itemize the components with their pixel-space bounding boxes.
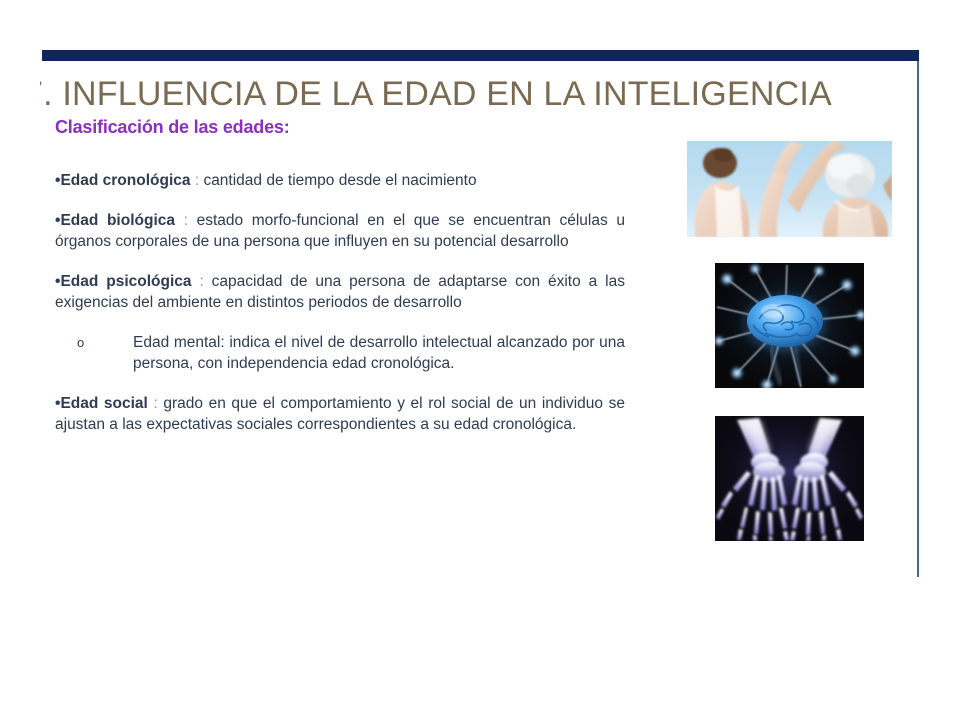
hand-xray-photo bbox=[715, 416, 864, 541]
sub-term-label: Edad mental bbox=[133, 334, 220, 351]
slide-canvas: 7. INFLUENCIA DE LA EDAD EN LA INTELIGEN… bbox=[0, 0, 960, 720]
term-separator: : bbox=[184, 212, 188, 229]
term-separator: : bbox=[195, 172, 199, 189]
right-vertical-rule bbox=[917, 61, 919, 577]
term-label: Edad cronológica bbox=[60, 172, 190, 189]
sub-bullet-marker: o bbox=[77, 332, 84, 353]
term-separator: : bbox=[199, 273, 203, 290]
term-definition: cantidad de tiempo desde el nacimiento bbox=[203, 172, 476, 189]
hand-xray-illustration bbox=[715, 416, 864, 541]
term-separator: : bbox=[153, 395, 157, 412]
term-label: Edad psicológica bbox=[60, 273, 191, 290]
list-item: •Edad biológica : estado morfo-funcional… bbox=[55, 210, 625, 252]
sub-list-item: o Edad mental: indica el nivel de desarr… bbox=[55, 332, 625, 374]
term-label: Edad social bbox=[60, 395, 147, 412]
body-content: •Edad cronológica : cantidad de tiempo d… bbox=[55, 170, 625, 435]
list-item: •Edad psicológica : capacidad de una per… bbox=[55, 271, 625, 313]
title-accent-bar bbox=[42, 50, 919, 61]
page-title-text: 7. INFLUENCIA DE LA EDAD EN LA INTELIGEN… bbox=[40, 72, 904, 116]
section-subtitle: Clasificación de las edades: bbox=[55, 117, 290, 138]
term-label: Edad biológica bbox=[60, 212, 175, 229]
aging-people-photo bbox=[687, 141, 892, 237]
list-item: •Edad cronológica : cantidad de tiempo d… bbox=[55, 170, 625, 191]
sub-term-separator: : bbox=[220, 334, 224, 351]
brain-neurons-illustration bbox=[715, 263, 864, 388]
page-title: 7. INFLUENCIA DE LA EDAD EN LA INTELIGEN… bbox=[40, 72, 920, 116]
list-item: •Edad social : grado en que el comportam… bbox=[55, 393, 625, 435]
aging-people-illustration bbox=[687, 141, 892, 237]
brain-neurons-photo bbox=[715, 263, 864, 388]
